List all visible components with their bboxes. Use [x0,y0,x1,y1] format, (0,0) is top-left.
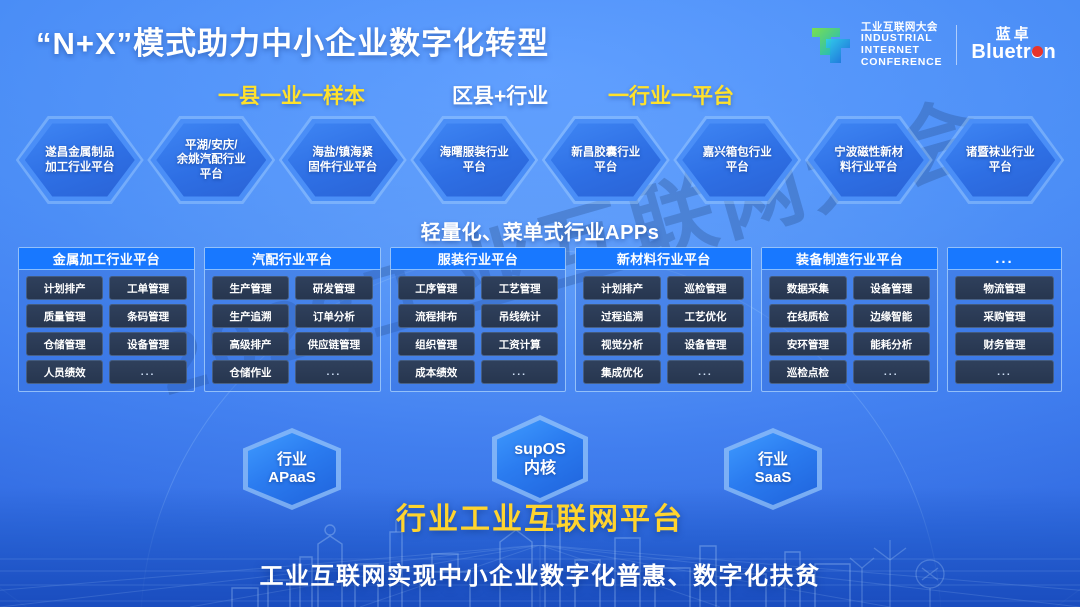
app-chip[interactable]: ... [853,360,930,384]
app-chip[interactable]: 供应链管理 [295,332,372,356]
app-chip[interactable]: 计划排产 [583,276,660,300]
app-chip[interactable]: 采购管理 [955,304,1054,328]
apps-column: ...物流管理采购管理财务管理... [947,247,1062,392]
apps-chip-grid: 生产管理研发管理生产追溯订单分析高级排产供应链管理仓储作业... [205,270,380,391]
app-chip[interactable]: 生产管理 [212,276,289,300]
industry-hexagon[interactable]: 平湖/安庆/余姚汽配行业平台 [146,116,278,204]
app-chip[interactable]: 设备管理 [853,276,930,300]
app-chip[interactable]: 人员绩效 [26,360,103,384]
app-chip[interactable]: 巡检管理 [667,276,744,300]
app-chip[interactable]: 流程排布 [398,304,475,328]
conference-logo: 工业互联网大会 INDUSTRIAL INTERNET CONFERENCE [810,22,943,69]
apps-section-title: 轻量化、菜单式行业APPs [0,216,1080,245]
app-chip[interactable]: 吊线统计 [481,304,558,328]
conference-name-en-3: CONFERENCE [861,57,943,69]
logo-group: 工业互联网大会 INDUSTRIAL INTERNET CONFERENCE 蓝… [810,14,1056,76]
hexagon-label: 新昌胶囊行业平台 [559,146,653,175]
app-chip[interactable]: 订单分析 [295,304,372,328]
app-chip[interactable]: 财务管理 [955,332,1054,356]
app-chip[interactable]: 边缘智能 [853,304,930,328]
brand-name-cn: 蓝卓 [971,27,1056,43]
apps-column-title[interactable]: 服装行业平台 [391,248,566,270]
brand-logo: 蓝卓 Bluetron [971,27,1056,64]
industry-hexagon[interactable]: 海盐/镇海紧固件行业平台 [277,116,409,204]
app-chip[interactable]: 工资计算 [481,332,558,356]
apps-column-row: 金属加工行业平台计划排产工单管理质量管理条码管理仓储管理设备管理人员绩效...汽… [18,247,1062,392]
app-chip[interactable]: 设备管理 [667,332,744,356]
hexagon-label: 诸暨袜业行业平台 [953,146,1047,175]
industry-hexagon[interactable]: 新昌胶囊行业平台 [540,116,672,204]
platform-node-label: supOS内核 [514,440,566,478]
app-chip[interactable]: 仓储作业 [212,360,289,384]
slide-canvas: 2023工业互联网大会 “N+X”模式助力中小企业数字化转型 工业互联网大会 I… [0,0,1080,607]
industry-hexagon[interactable]: 诸暨袜业行业平台 [935,116,1067,204]
brand-name-en: Bluetron [971,42,1056,63]
conference-name-en-2: INTERNET [861,45,943,57]
page-title: “N+X”模式助力中小企业数字化转型 [36,18,549,63]
industry-hexagon[interactable]: 宁波磁性新材料行业平台 [803,116,935,204]
app-chip[interactable]: 研发管理 [295,276,372,300]
apps-column-title[interactable]: 金属加工行业平台 [19,248,194,270]
platform-big-title: 行业工业互联网平台 [0,494,1080,538]
hexagon-label: 海曙服装行业平台 [427,146,521,175]
app-chip[interactable]: 工艺管理 [481,276,558,300]
apps-chip-grid: 计划排产工单管理质量管理条码管理仓储管理设备管理人员绩效... [19,270,194,391]
apps-column: 新材料行业平台计划排产巡检管理过程追溯工艺优化视觉分析设备管理集成优化... [575,247,752,392]
app-chip[interactable]: 过程追溯 [583,304,660,328]
app-chip[interactable]: 质量管理 [26,304,103,328]
app-chip[interactable]: 设备管理 [109,332,186,356]
app-chip[interactable]: 计划排产 [26,276,103,300]
app-chip[interactable]: 集成优化 [583,360,660,384]
platform-node-label: 行业APaaS [268,451,316,487]
app-chip[interactable]: 仓储管理 [26,332,103,356]
hexagon-label: 嘉兴箱包行业平台 [690,146,784,175]
app-chip[interactable]: ... [481,360,558,384]
platform-node-label: 行业SaaS [755,451,792,487]
app-chip[interactable]: 工单管理 [109,276,186,300]
conference-text: 工业互联网大会 INDUSTRIAL INTERNET CONFERENCE [861,22,943,69]
hexagon-label: 遂昌金属制品加工行业平台 [33,146,127,175]
apps-chip-grid: 数据采集设备管理在线质检边缘智能安环管理能耗分析巡检点检... [762,270,937,391]
app-chip[interactable]: 高级排产 [212,332,289,356]
apps-column-title[interactable]: 装备制造行业平台 [762,248,937,270]
apps-chip-grid: 物流管理采购管理财务管理... [948,270,1061,391]
subhead-1: 一县一业一样本 [218,80,365,110]
subhead-3: 一行业一平台 [608,80,734,110]
industry-hexagon[interactable]: 海曙服装行业平台 [409,116,541,204]
hexagon-label: 平湖/安庆/余姚汽配行业平台 [164,138,258,181]
app-chip[interactable]: 物流管理 [955,276,1054,300]
apps-column: 服装行业平台工序管理工艺管理流程排布吊线统计组织管理工资计算成本绩效... [390,247,567,392]
app-chip[interactable]: ... [955,360,1054,384]
app-chip[interactable]: 巡检点检 [769,360,846,384]
app-chip[interactable]: ... [295,360,372,384]
app-chip[interactable]: 条码管理 [109,304,186,328]
apps-column: 装备制造行业平台数据采集设备管理在线质检边缘智能安环管理能耗分析巡检点检... [761,247,938,392]
app-chip[interactable]: 数据采集 [769,276,846,300]
apps-column-title[interactable]: 汽配行业平台 [205,248,380,270]
app-chip[interactable]: 生产追溯 [212,304,289,328]
app-chip[interactable]: 视觉分析 [583,332,660,356]
subhead-2: 区县+行业 [452,80,548,110]
app-chip[interactable]: 在线质检 [769,304,846,328]
industry-hexagon[interactable]: 嘉兴箱包行业平台 [672,116,804,204]
apps-chip-grid: 计划排产巡检管理过程追溯工艺优化视觉分析设备管理集成优化... [576,270,751,391]
subhead-row: 一县一业一样本区县+行业一行业一平台 [0,80,1080,110]
app-chip[interactable]: 安环管理 [769,332,846,356]
brand-name-en-text: Bluetron [971,41,1056,63]
apps-chip-grid: 工序管理工艺管理流程排布吊线统计组织管理工资计算成本绩效... [391,270,566,391]
hexagon-label: 宁波磁性新材料行业平台 [822,146,916,175]
app-chip[interactable]: 成本绩效 [398,360,475,384]
app-chip[interactable]: ... [109,360,186,384]
apps-column-title[interactable]: 新材料行业平台 [576,248,751,270]
footer-tagline: 工业互联网实现中小企业数字化普惠、数字化扶贫 [0,556,1080,591]
conference-mark-icon [810,25,852,65]
apps-column: 金属加工行业平台计划排产工单管理质量管理条码管理仓储管理设备管理人员绩效... [18,247,195,392]
app-chip[interactable]: 能耗分析 [853,332,930,356]
industry-hexagon[interactable]: 遂昌金属制品加工行业平台 [14,116,146,204]
apps-column: 汽配行业平台生产管理研发管理生产追溯订单分析高级排产供应链管理仓储作业... [204,247,381,392]
logo-divider [956,25,957,65]
platform-node[interactable]: supOS内核 [492,415,588,503]
app-chip[interactable]: 组织管理 [398,332,475,356]
apps-column-title[interactable]: ... [948,248,1061,270]
app-chip[interactable]: 工序管理 [398,276,475,300]
hexagon-label: 海盐/镇海紧固件行业平台 [296,146,390,175]
app-chip[interactable]: 工艺优化 [667,304,744,328]
app-chip[interactable]: ... [667,360,744,384]
industry-hexagon-row: 遂昌金属制品加工行业平台平湖/安庆/余姚汽配行业平台海盐/镇海紧固件行业平台海曙… [14,116,1066,204]
